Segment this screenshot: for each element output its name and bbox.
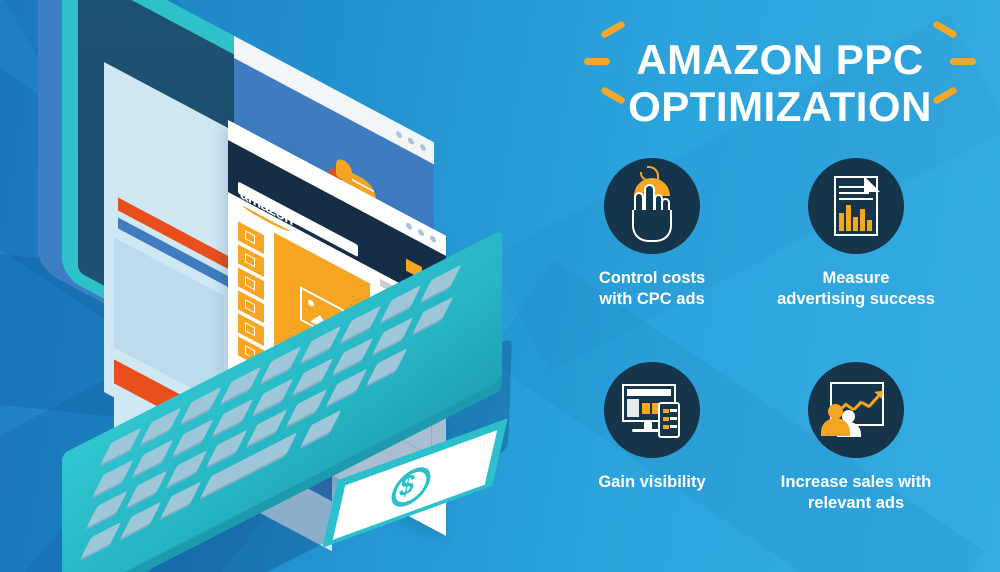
keyboard-key[interactable] xyxy=(221,366,262,403)
benefit-control-costs[interactable]: Control costs with CPC ads xyxy=(542,158,762,310)
ad-tile xyxy=(642,403,650,414)
chart-bar xyxy=(846,205,851,231)
chart-bar xyxy=(867,220,872,231)
keyboard-key[interactable] xyxy=(141,407,182,444)
benefit-caption: Gain visibility xyxy=(542,472,762,493)
window-dot xyxy=(420,143,426,152)
dollar-bill-icon: $ xyxy=(330,452,510,548)
monitor-sidebar xyxy=(627,399,639,417)
monitor-header-bar xyxy=(627,389,671,396)
title-line-1: AMAZON PPC xyxy=(560,36,1000,83)
title-line-2: OPTIMIZATION xyxy=(560,83,1000,130)
window-dot xyxy=(406,222,412,231)
chart-bar xyxy=(853,217,858,231)
hand-palm xyxy=(632,210,672,242)
ad-row xyxy=(663,417,669,421)
window-dot xyxy=(408,137,414,146)
chart-bar xyxy=(839,213,844,231)
benefit-gain-visibility[interactable]: Gain visibility xyxy=(542,362,762,493)
keyboard-key[interactable] xyxy=(181,387,222,424)
chart-bar xyxy=(860,209,865,231)
person-head-primary xyxy=(828,404,843,419)
document-text-line xyxy=(839,186,869,188)
benefit-caption: Measure advertising success xyxy=(746,268,966,310)
keyboard-key[interactable] xyxy=(341,305,382,342)
phone-text-line xyxy=(670,409,677,412)
mobile-phone xyxy=(658,402,680,438)
window-dot xyxy=(430,234,436,243)
ad-row xyxy=(663,409,669,413)
keyboard-key[interactable] xyxy=(261,346,302,383)
phone-text-line xyxy=(670,425,677,428)
bar-chart xyxy=(839,202,873,231)
document-text-line xyxy=(839,192,869,194)
amazon-sidebar-rail xyxy=(238,221,264,371)
window-dot xyxy=(418,228,424,237)
benefits-grid: Control costs with CPC ads xyxy=(560,158,1000,558)
benefit-increase-sales[interactable]: Increase sales with relevant ads xyxy=(746,362,966,514)
keyboard-key[interactable] xyxy=(413,297,454,334)
benefit-caption: Increase sales with relevant ads xyxy=(746,472,966,514)
benefit-measure-success[interactable]: Measure advertising success xyxy=(746,158,966,310)
laptop-illustration: ∧∨ xyxy=(0,0,560,572)
document-text-line xyxy=(839,198,873,200)
click-hand-icon xyxy=(604,158,700,254)
infographic-canvas: ∧∨ xyxy=(0,0,1000,572)
window-dot xyxy=(396,130,402,139)
keyboard-key[interactable] xyxy=(421,265,462,302)
phone-text-line xyxy=(670,417,677,420)
content-panel: AMAZON PPC OPTIMIZATION xyxy=(560,0,1000,572)
document-bar-chart-icon xyxy=(808,158,904,254)
monitor-mobile-icon xyxy=(604,362,700,458)
benefit-caption: Control costs with CPC ads xyxy=(542,268,762,310)
growth-board-people-icon xyxy=(808,362,904,458)
ad-row xyxy=(663,425,669,429)
keyboard-key[interactable] xyxy=(101,428,142,465)
page-title: AMAZON PPC OPTIMIZATION xyxy=(560,36,1000,130)
keyboard-key[interactable] xyxy=(301,326,342,363)
keyboard-key[interactable] xyxy=(381,285,422,322)
